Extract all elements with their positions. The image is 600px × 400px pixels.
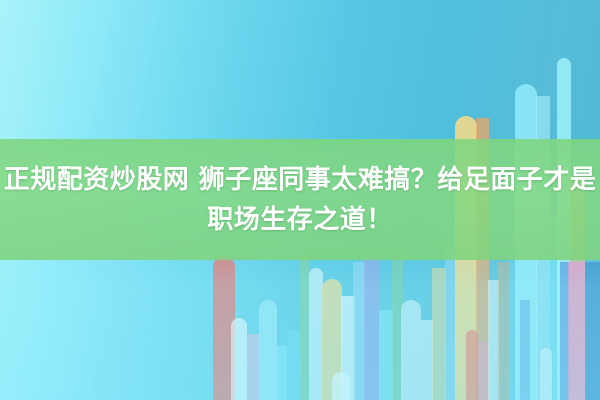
- headline-line-2: 职场生存之道！: [207, 200, 393, 240]
- headline-line-1: 正规配资炒股网 狮子座同事太难搞？给足面子才是: [4, 160, 597, 200]
- banner-headline: 正规配资炒股网 狮子座同事太难搞？给足面子才是 职场生存之道！: [0, 139, 600, 260]
- promo-banner: 正规配资炒股网 狮子座同事太难搞？给足面子才是 职场生存之道！: [0, 0, 600, 400]
